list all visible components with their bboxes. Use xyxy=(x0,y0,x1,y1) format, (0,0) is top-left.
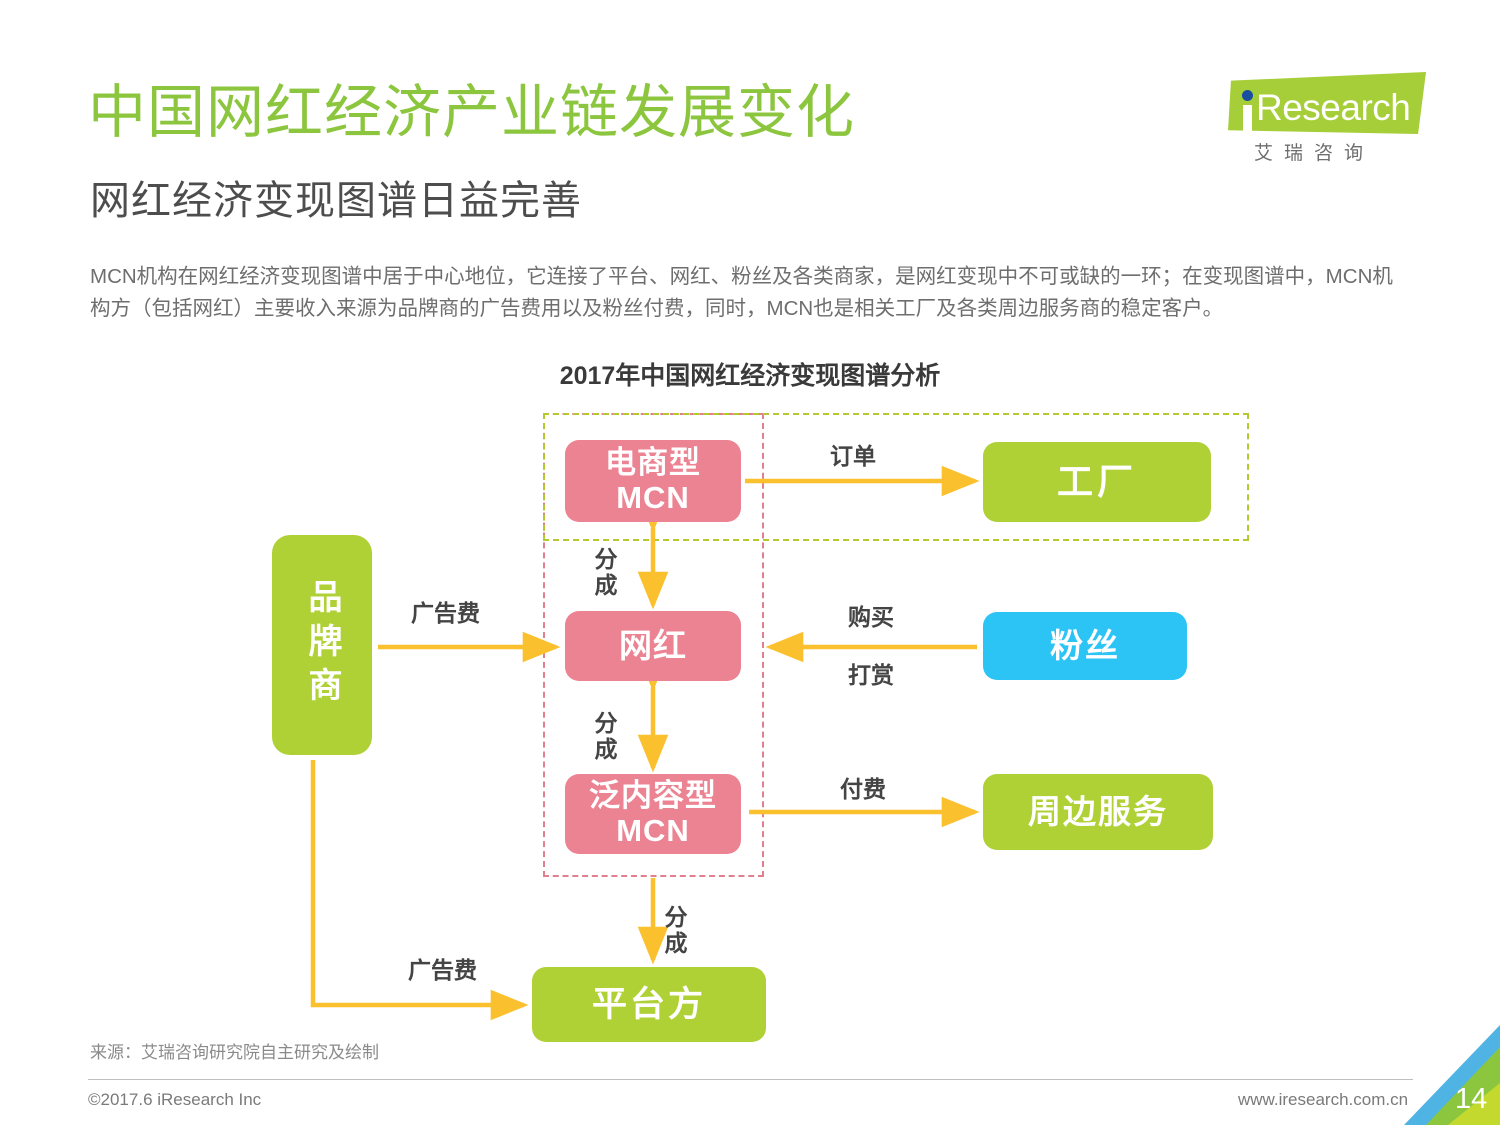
node-label: 电商型MCN xyxy=(605,446,701,515)
node-content-mcn[interactable]: 泛内容型MCN xyxy=(565,774,741,854)
edge-label-buy: 购买 xyxy=(848,604,894,630)
logo-i-stem-icon xyxy=(1243,105,1252,134)
node-brand-owner[interactable]: 品牌商 xyxy=(272,535,372,755)
edge-label-ad-fee-bottom: 广告费 xyxy=(408,957,477,983)
edge-label-order: 订单 xyxy=(830,443,876,469)
node-platform[interactable]: 平台方 xyxy=(532,967,766,1042)
logo-i-dot-icon xyxy=(1242,90,1253,101)
diagram-canvas: 品牌商 电商型MCN 网红 泛内容型MCN 工厂 粉丝 周边服务 平台方 广告费… xyxy=(0,0,1500,1125)
slide-page: 中国网红经济产业链发展变化 网红经济变现图谱日益完善 MCN机构在网红经济变现图… xyxy=(0,0,1500,1125)
node-peripheral-services[interactable]: 周边服务 xyxy=(983,774,1213,850)
edge-label-share-bottom: 分成 xyxy=(664,904,688,956)
edge-label-pay: 付费 xyxy=(840,776,886,802)
node-fans[interactable]: 粉丝 xyxy=(983,612,1187,680)
copyright-text: ©2017.6 iResearch Inc xyxy=(88,1090,261,1110)
website-url: www.iresearch.com.cn xyxy=(1238,1090,1408,1110)
node-factory[interactable]: 工厂 xyxy=(983,442,1211,522)
logo-wordmark: Research xyxy=(1256,88,1410,128)
diagram-connectors xyxy=(0,0,1500,1125)
edge-label-share-top: 分成 xyxy=(594,546,618,598)
footer-divider xyxy=(88,1079,1413,1080)
page-number: 14 xyxy=(1455,1083,1487,1116)
edge-label-share-mid: 分成 xyxy=(594,710,618,762)
edge-label-ad-fee-top: 广告费 xyxy=(411,600,480,626)
node-label: 泛内容型MCN xyxy=(589,779,717,848)
node-influencer[interactable]: 网红 xyxy=(565,611,741,681)
source-note: 来源：艾瑞咨询研究院自主研究及绘制 xyxy=(90,1038,379,1063)
edge-label-tip: 打赏 xyxy=(848,662,894,688)
node-ecommerce-mcn[interactable]: 电商型MCN xyxy=(565,440,741,522)
